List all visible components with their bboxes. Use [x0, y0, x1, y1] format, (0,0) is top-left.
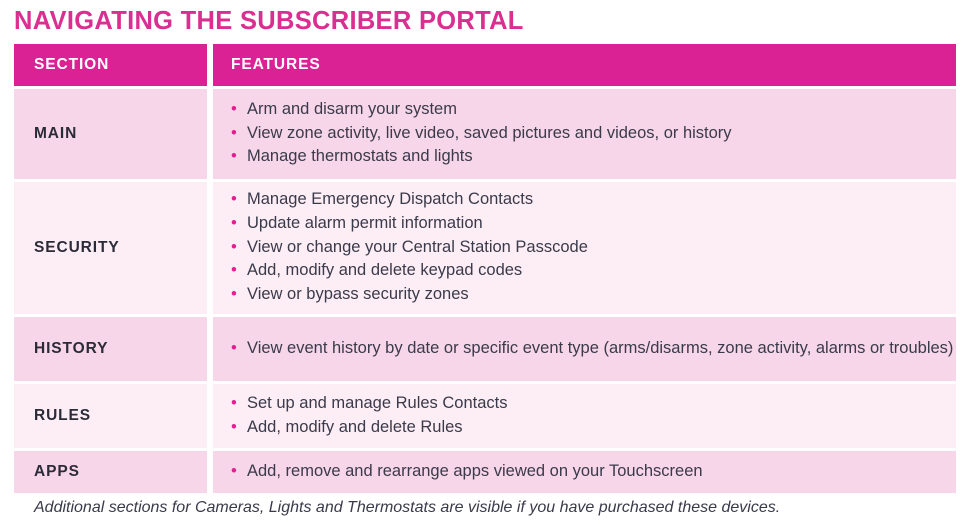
table-row: SECURITY Manage Emergency Dispatch Conta… — [14, 182, 956, 314]
feature-list-rules: Set up and manage Rules Contacts Add, mo… — [231, 392, 956, 440]
list-item: Arm and disarm your system — [231, 98, 956, 122]
list-item: Add, modify and delete Rules — [231, 416, 956, 440]
table-row: RULES Set up and manage Rules Contacts A… — [14, 384, 956, 448]
table-header-section-cell: SECTION — [14, 44, 207, 86]
section-cell-main: MAIN — [14, 89, 207, 179]
section-label-rules: RULES — [34, 407, 91, 425]
features-cell-apps: Add, remove and rearrange apps viewed on… — [213, 451, 956, 493]
page-container: NAVIGATING THE SUBSCRIBER PORTAL SECTION… — [0, 0, 970, 524]
section-label-history: HISTORY — [34, 340, 108, 358]
page-title: NAVIGATING THE SUBSCRIBER PORTAL — [14, 0, 956, 35]
table-row: MAIN Arm and disarm your system View zon… — [14, 89, 956, 179]
section-cell-apps: APPS — [14, 451, 207, 493]
list-item: View event history by date or specific e… — [231, 337, 956, 361]
list-item: Set up and manage Rules Contacts — [231, 392, 956, 416]
feature-list-history: View event history by date or specific e… — [231, 337, 956, 361]
table-row: HISTORY View event history by date or sp… — [14, 317, 956, 381]
features-cell-main: Arm and disarm your system View zone act… — [213, 89, 956, 179]
feature-list-main: Arm and disarm your system View zone act… — [231, 98, 956, 170]
list-item: Update alarm permit information — [231, 212, 956, 236]
list-item: Manage thermostats and lights — [231, 145, 956, 169]
feature-list-apps: Add, remove and rearrange apps viewed on… — [231, 460, 956, 484]
table-header-features-cell: FEATURES — [213, 44, 956, 86]
features-cell-rules: Set up and manage Rules Contacts Add, mo… — [213, 384, 956, 448]
table-header-row: SECTION FEATURES — [14, 44, 956, 86]
features-cell-security: Manage Emergency Dispatch Contacts Updat… — [213, 182, 956, 314]
list-item: View zone activity, live video, saved pi… — [231, 122, 956, 146]
list-item: View or change your Central Station Pass… — [231, 236, 956, 260]
section-cell-history: HISTORY — [14, 317, 207, 381]
feature-list-security: Manage Emergency Dispatch Contacts Updat… — [231, 188, 956, 308]
section-cell-rules: RULES — [14, 384, 207, 448]
list-item: Manage Emergency Dispatch Contacts — [231, 188, 956, 212]
table-row: APPS Add, remove and rearrange apps view… — [14, 451, 956, 493]
list-item: View or bypass security zones — [231, 283, 956, 307]
section-label-apps: APPS — [34, 463, 80, 481]
section-cell-security: SECURITY — [14, 182, 207, 314]
section-label-main: MAIN — [34, 125, 77, 143]
features-cell-history: View event history by date or specific e… — [213, 317, 956, 381]
footnote: Additional sections for Cameras, Lights … — [14, 498, 956, 519]
section-label-security: SECURITY — [34, 239, 120, 257]
column-header-features: FEATURES — [231, 56, 956, 74]
list-item: Add, modify and delete keypad codes — [231, 259, 956, 283]
list-item: Add, remove and rearrange apps viewed on… — [231, 460, 956, 484]
column-header-section: SECTION — [34, 56, 109, 74]
features-table: SECTION FEATURES MAIN Arm and disarm you… — [14, 44, 956, 493]
